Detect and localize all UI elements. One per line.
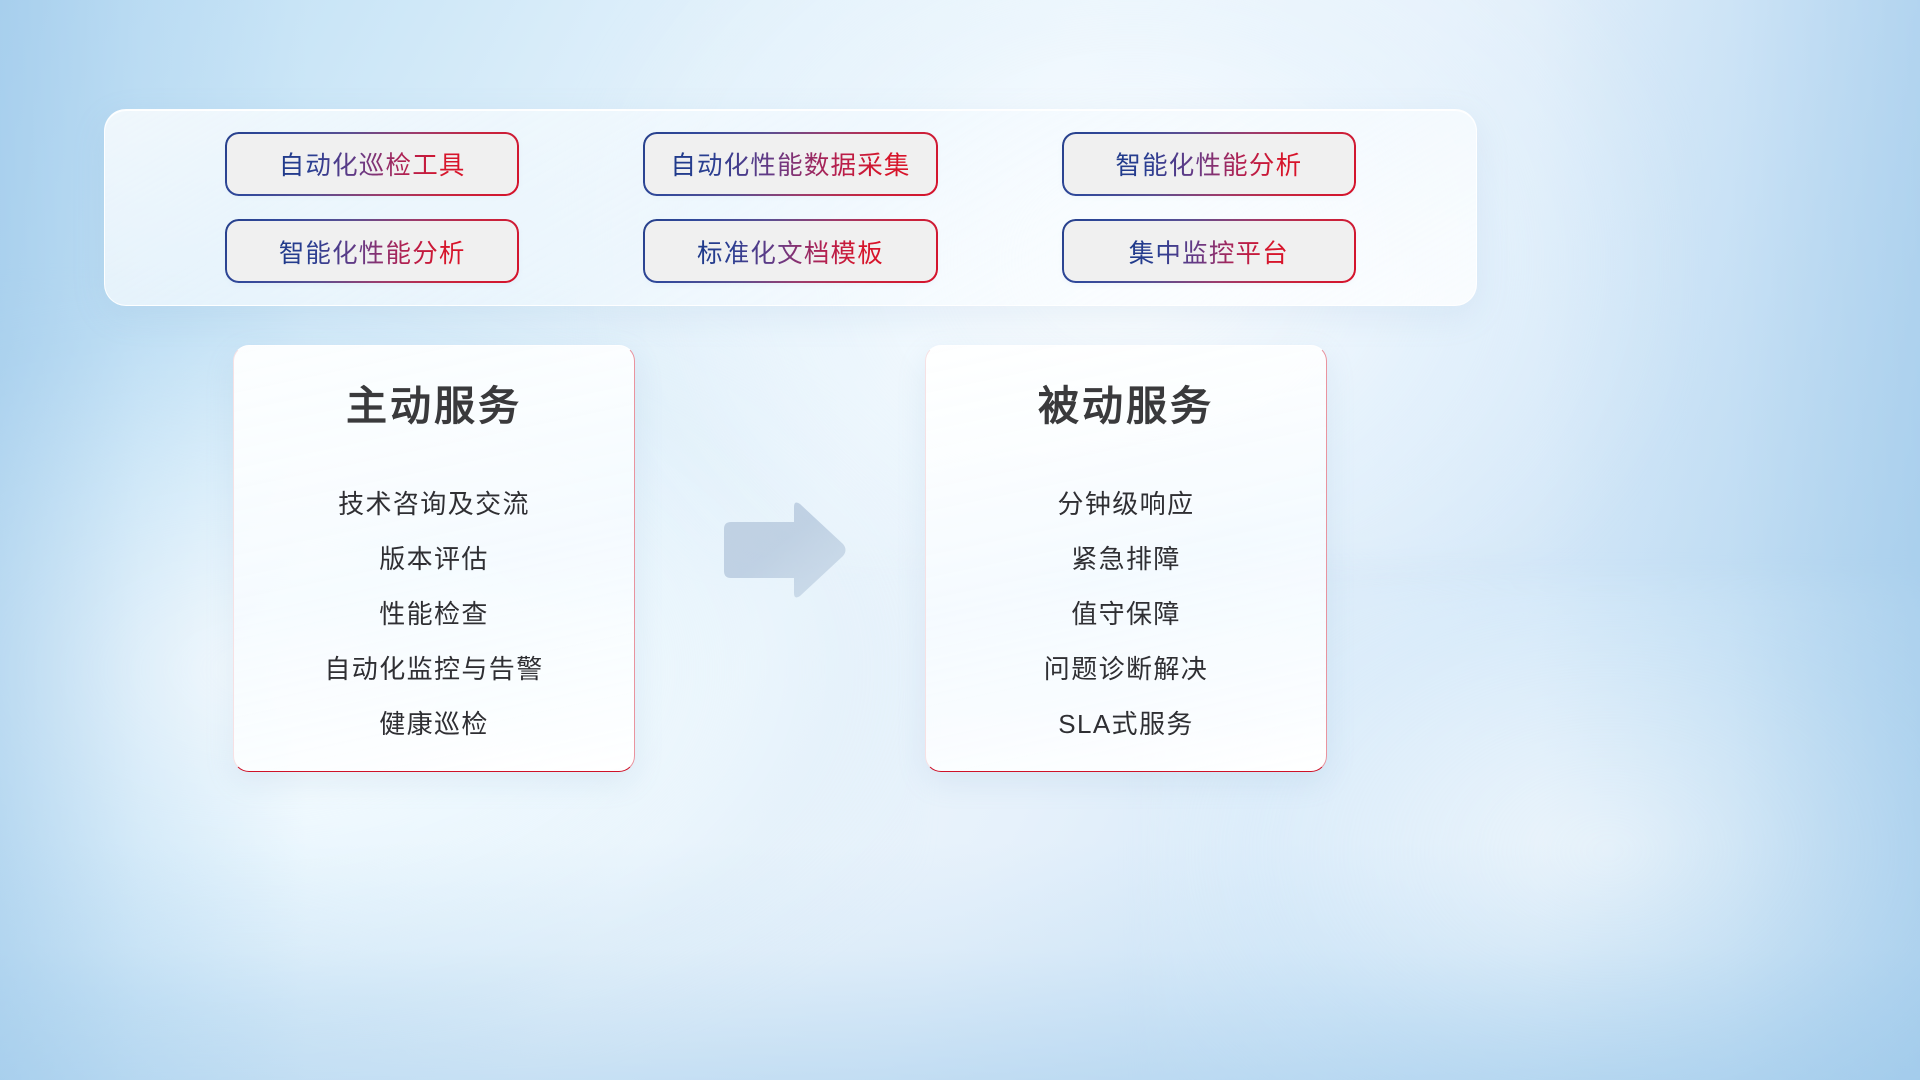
- proactive-service-title: 主动服务: [346, 382, 522, 430]
- list-item: 健康巡检: [379, 696, 489, 751]
- list-item: 值守保障: [1071, 586, 1181, 641]
- capability-tag-label: 标准化文档模板: [697, 233, 884, 270]
- capability-tag-label: 集中监控平台: [1129, 233, 1289, 270]
- reactive-service-list: 分钟级响应 紧急排障 值守保障 问题诊断解决 SLA式服务: [946, 476, 1306, 751]
- list-item: 自动化监控与告警: [324, 641, 543, 696]
- background-tint-bottom: [0, 842, 1920, 1080]
- list-item: 技术咨询及交流: [338, 476, 530, 531]
- proactive-service-card: 主动服务 技术咨询及交流 版本评估 性能检查 自动化监控与告警 健康巡检: [233, 345, 635, 772]
- capability-panel: 自动化巡检工具 自动化性能数据采集 智能化性能分析 智能化性能分析 标准化文档模…: [104, 109, 1477, 306]
- list-item: 分钟级响应: [1057, 476, 1194, 531]
- infographic-canvas: 自动化巡检工具 自动化性能数据采集 智能化性能分析 智能化性能分析 标准化文档模…: [0, 0, 1920, 1080]
- capability-tag[interactable]: 智能化性能分析: [227, 221, 518, 282]
- list-item: SLA式服务: [1058, 696, 1194, 751]
- capability-tag[interactable]: 智能化性能分析: [1063, 133, 1354, 194]
- capability-tag-label: 智能化性能分析: [279, 233, 466, 270]
- capability-tag[interactable]: 标准化文档模板: [645, 221, 936, 282]
- proactive-service-list: 技术咨询及交流 版本评估 性能检查 自动化监控与告警 健康巡检: [254, 476, 614, 751]
- list-item: 问题诊断解决: [1044, 641, 1208, 696]
- capability-tag-label: 自动化巡检工具: [279, 145, 466, 182]
- capability-tag[interactable]: 自动化性能数据采集: [645, 133, 936, 194]
- flow-arrow-right-icon: [720, 500, 848, 600]
- capability-tag[interactable]: 自动化巡检工具: [227, 133, 518, 194]
- capability-tag-label: 自动化性能数据采集: [670, 145, 910, 182]
- reactive-service-card: 被动服务 分钟级响应 紧急排障 值守保障 问题诊断解决 SLA式服务: [925, 345, 1327, 772]
- list-item: 紧急排障: [1071, 531, 1181, 586]
- list-item: 性能检查: [379, 586, 489, 641]
- list-item: 版本评估: [379, 531, 489, 586]
- capability-tag-label: 智能化性能分析: [1115, 145, 1302, 182]
- reactive-service-title: 被动服务: [1038, 382, 1214, 430]
- capability-tag[interactable]: 集中监控平台: [1063, 221, 1354, 282]
